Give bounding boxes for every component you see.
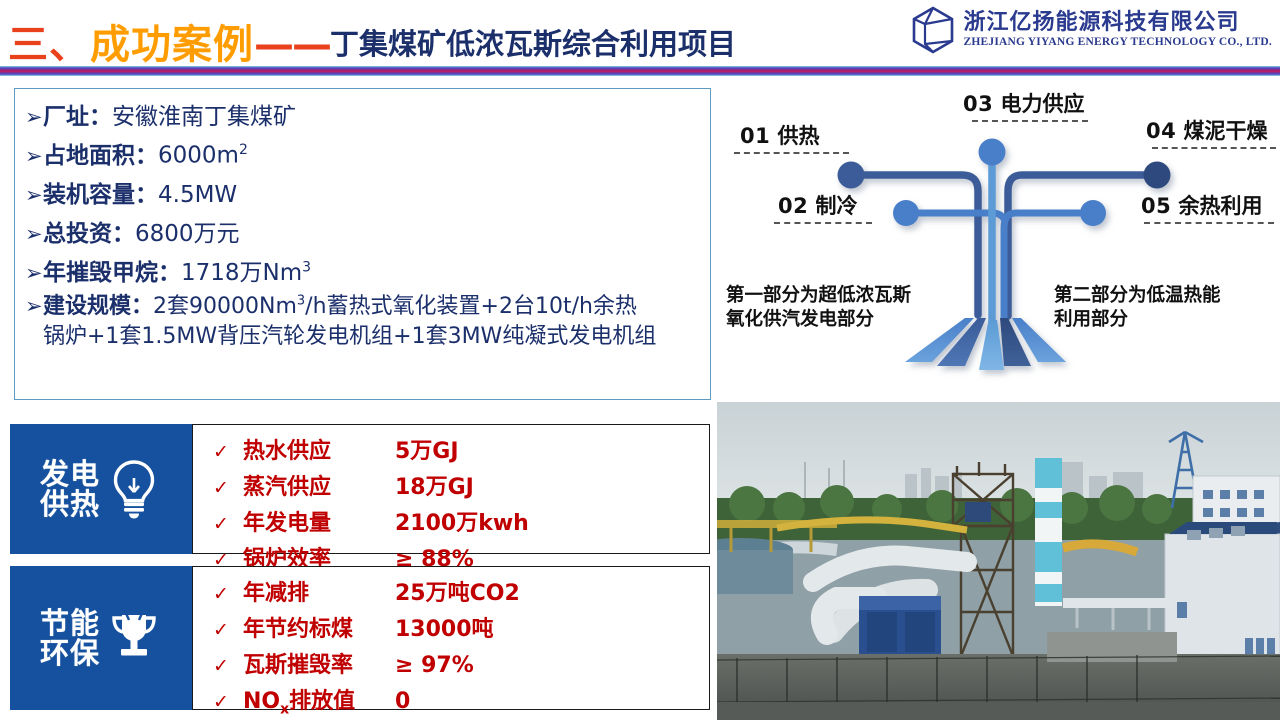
list-item: ➢ 总投资： 6800万元 [25,214,700,248]
table-row: ✓ 年节约标煤 13000吨 [213,611,709,643]
stat-value: 2100万kwh [395,505,529,537]
scale-superscript: 3 [297,294,305,309]
fact-value: 6800万元 [135,214,240,248]
table-row: ✓ 年发电量 2100万kwh [213,505,709,537]
company-name-cn: 浙江亿扬能源科技有限公司 [963,10,1272,35]
hexagon-logo-icon [911,6,955,54]
stat-value: 25万吨CO2 [395,575,520,607]
list-item-construction-scale: ➢ 建设规模：2套90000Nm3/h蓄热式氧化装置+2台10t/h余热锅炉+1… [25,292,700,351]
panel-tag-energy-eco: 节能 环保 [10,566,192,710]
list-item: ➢ 厂址： 安徽淮南丁集煤矿 [25,97,700,131]
panel-tag-line2: 环保 [40,638,100,668]
diagram-label-02: 02 制冷 [778,190,858,220]
check-icon: ✓ [213,691,243,713]
fact-value: 6000m2 [158,142,248,169]
list-item: ➢ 占地面积： 6000m2 [25,136,700,170]
panel-body-power-heat: ✓ 热水供应 5万GJ ✓ 蒸汽供应 18万GJ ✓ 年发电量 2100万kwh… [192,424,710,554]
stat-value: ≥ 97% [395,653,474,678]
diagram-note-right: 第二部分为低温热能 利用部分 [1054,284,1221,331]
company-name-en: ZHEJIANG YIYANG ENERGY TECHNOLOGY CO., L… [963,36,1272,50]
stat-label: 瓦斯摧毁率 [243,647,395,679]
diagram-label-04: 04 煤泥干燥 [1146,115,1268,145]
diagram-underline-05 [1144,222,1274,224]
title-section-number: 三、 [8,22,90,68]
page-title: 三、成功案例——丁集煤矿低浓瓦斯综合利用项目 [8,12,736,70]
industrial-plant-photo [717,402,1280,720]
scale-line1-b: /h蓄热式氧化装置+2台10t/h余热 [305,294,637,319]
company-logo: 浙江亿扬能源科技有限公司 ZHEJIANG YIYANG ENERGY TECH… [911,6,1272,54]
panel-tag-line1: 节能 [40,608,100,638]
table-row: ✓ 瓦斯摧毁率 ≥ 97% [213,647,709,679]
diagram-underline-04 [1152,147,1276,149]
table-row: ✓ 热水供应 5万GJ [213,433,709,465]
diagram-underline-02 [774,222,872,224]
panel-tag-line2: 供热 [40,489,100,519]
stat-label: 热水供应 [243,433,395,465]
table-row: ✓ NOx排放值 0 [213,683,709,717]
fact-key: 厂址： [43,97,112,131]
bullet-arrow-icon: ➢ [25,146,43,167]
scale-line2: 锅炉+1套1.5MW背压汽轮发电机组+1套3MW纯凝式发电机组 [43,324,656,349]
check-icon: ✓ [213,655,243,677]
diagram-label-03: 03 电力供应 [963,88,1085,118]
stat-value: 0 [395,689,410,714]
bullet-arrow-icon: ➢ [25,185,43,206]
check-icon: ✓ [213,477,243,499]
fact-key: 总投资： [43,214,135,248]
panel-tag-power-heat: 发电 供热 [10,424,192,554]
slide-header: 三、成功案例——丁集煤矿低浓瓦斯综合利用项目 浙江亿扬能源科技有限公司 ZHEJ… [0,0,1280,72]
fact-key: 占地面积： [43,136,158,170]
stat-label: 年节约标煤 [243,611,395,643]
check-icon: ✓ [213,619,243,641]
diagram-note-left: 第一部分为超低浓瓦斯 氧化供汽发电部分 [726,284,911,331]
lightbulb-icon [106,458,162,520]
scale-key: 建设规模： [43,294,153,319]
bullet-arrow-icon: ➢ [25,107,43,128]
stat-value: 13000吨 [395,611,494,643]
list-item: ➢ 装机容量： 4.5MW [25,175,700,209]
header-gradient-divider [0,66,1280,76]
stat-label: 年发电量 [243,505,395,537]
fact-key: 年摧毁甲烷： [43,253,181,287]
check-icon: ✓ [213,513,243,535]
panel-body-energy-eco: ✓ 年减排 25万吨CO2 ✓ 年节约标煤 13000吨 ✓ 瓦斯摧毁率 ≥ 9… [192,566,710,710]
table-row: ✓ 年减排 25万吨CO2 [213,575,709,607]
stat-value: 5万GJ [395,433,459,465]
fact-superscript: 3 [302,259,311,275]
check-icon: ✓ [213,583,243,605]
stat-value: 18万GJ [395,469,474,501]
check-icon: ✓ [213,441,243,463]
construction-scale-text: 建设规模：2套90000Nm3/h蓄热式氧化装置+2台10t/h余热锅炉+1套1… [43,292,656,351]
scale-line1-a: 2套90000Nm [153,294,297,319]
title-dash: —— [254,22,330,68]
fact-key: 装机容量： [43,175,158,209]
diagram-label-01: 01 供热 [740,120,820,150]
trophy-icon [106,607,162,669]
project-facts-box: ➢ 厂址： 安徽淮南丁集煤矿 ➢ 占地面积： 6000m2 ➢ 装机容量： 4.… [14,88,711,400]
diagram-underline-01 [734,152,849,154]
list-item: ➢ 年摧毁甲烷： 1718万Nm3 [25,253,700,287]
energy-utilization-diagram: 01 供热 02 制冷 03 电力供应 04 煤泥干燥 05 余热利用 第一部分… [716,80,1280,402]
table-row: ✓ 蒸汽供应 18万GJ [213,469,709,501]
bullet-arrow-icon: ➢ [25,263,43,284]
stat-label: 蒸汽供应 [243,469,395,501]
stats-panel-power-heat: 发电 供热 ✓ 热水供应 5万GJ ✓ 蒸汽供应 18万GJ ✓ 年发电量 21… [10,424,710,554]
fact-superscript: 2 [239,142,248,158]
title-main-text: 成功案例 [90,22,254,68]
stat-label: 年减排 [243,575,395,607]
title-subtitle: 丁集煤矿低浓瓦斯综合利用项目 [330,27,736,61]
diagram-label-05: 05 余热利用 [1141,190,1263,220]
fact-value: 1718万Nm3 [181,253,311,287]
bullet-arrow-icon: ➢ [25,296,43,317]
diagram-underline-03 [972,120,1088,122]
fact-value: 安徽淮南丁集煤矿 [112,97,296,131]
bullet-arrow-icon: ➢ [25,224,43,245]
stats-panel-energy-eco: 节能 环保 ✓ 年减排 25万吨CO2 ✓ 年节约标煤 13000吨 ✓ 瓦斯摧… [10,566,710,710]
panel-tag-line1: 发电 [40,459,100,489]
stat-label: NOx排放值 [243,683,395,717]
fact-value: 4.5MW [158,182,237,208]
